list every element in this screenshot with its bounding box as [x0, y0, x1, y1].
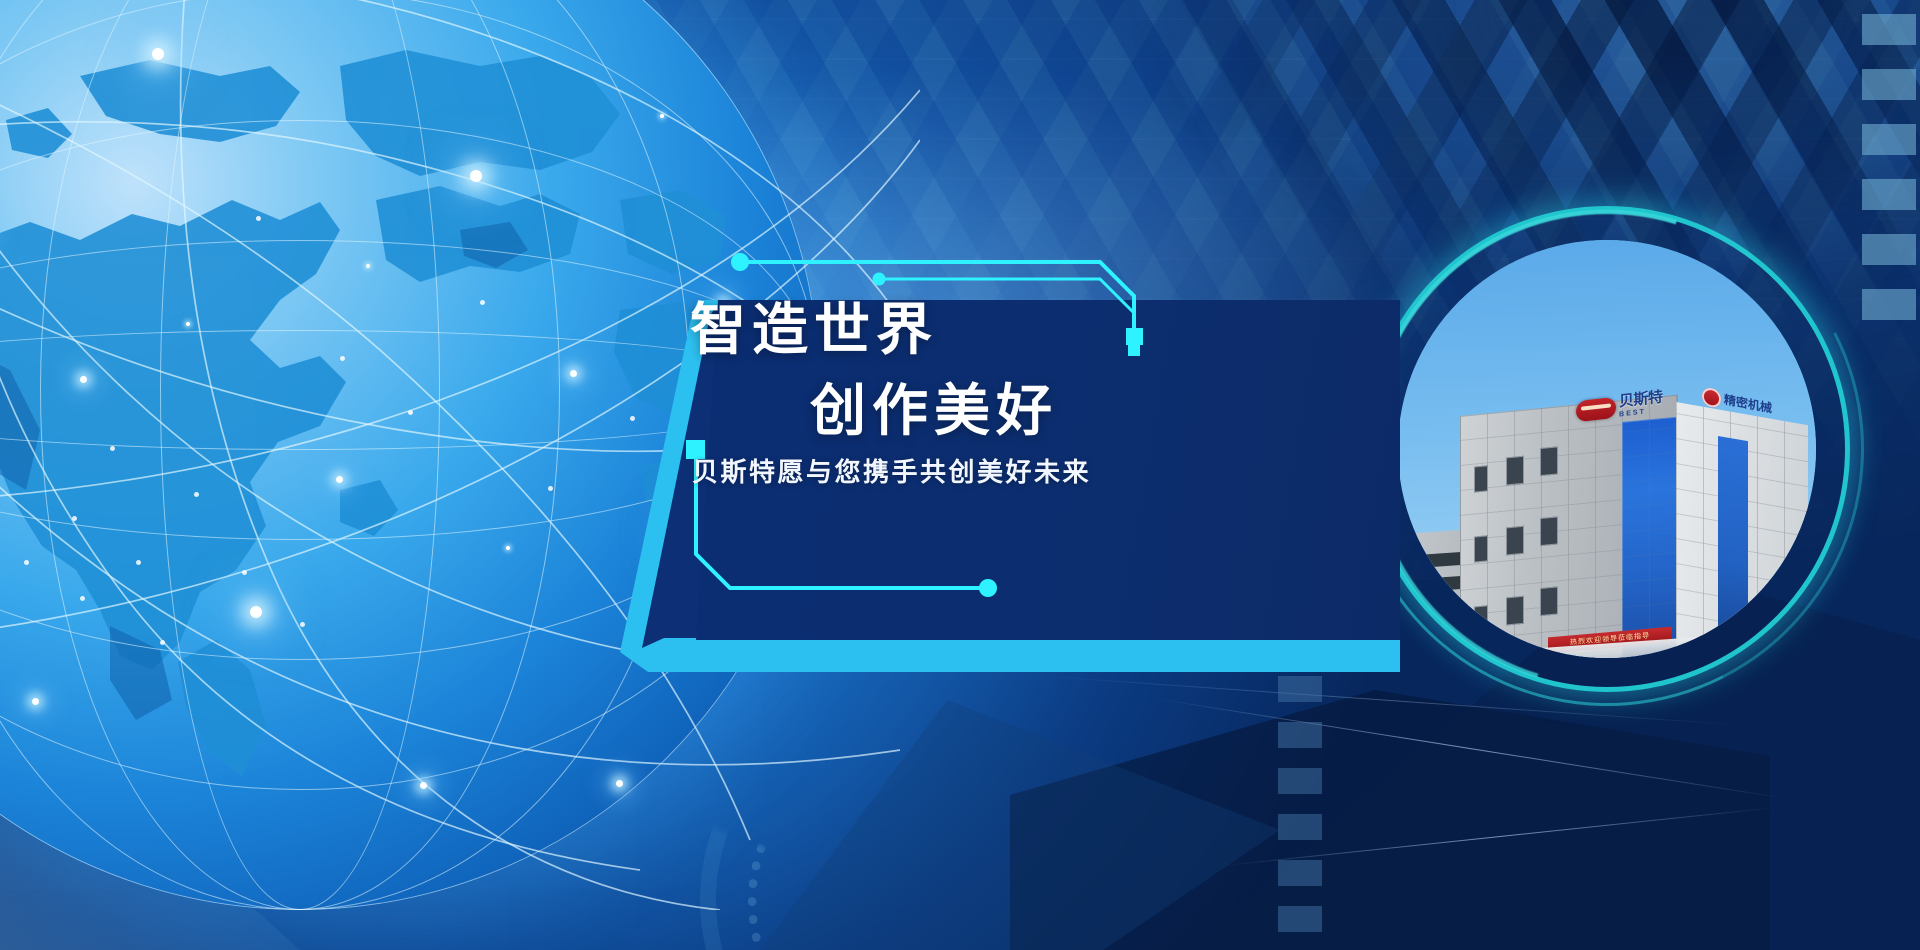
headline-line-1: 智造世界 — [690, 302, 1920, 358]
right-edge-dashes — [1862, 14, 1916, 344]
network-node — [420, 782, 427, 789]
banner-subtitle: 贝斯特愿与您携手共创美好未来 — [692, 452, 1091, 489]
dash-mark — [1862, 69, 1916, 100]
network-node — [506, 546, 510, 550]
network-node — [570, 370, 577, 377]
headline-line-2: 创作美好 — [810, 383, 1920, 439]
dash-mark — [1278, 722, 1322, 748]
hero-banner: 贝斯特 BEST 精密机械 热烈欢迎领导莅临指导 — [0, 0, 1920, 950]
network-node — [660, 114, 664, 118]
dash-mark — [1862, 289, 1916, 320]
network-node — [32, 698, 39, 705]
network-node — [250, 606, 262, 618]
dash-mark — [1862, 234, 1916, 265]
dash-mark — [1862, 179, 1916, 210]
network-node — [152, 48, 164, 60]
company-photo-circle: 贝斯特 BEST 精密机械 热烈欢迎领导莅临指导 — [1364, 206, 1850, 692]
dash-mark — [1278, 906, 1322, 932]
mid-bottom-dashes — [1278, 676, 1322, 950]
dash-mark — [1862, 14, 1916, 45]
network-node — [336, 476, 343, 483]
network-node — [186, 322, 190, 326]
dash-mark — [1278, 814, 1322, 840]
dash-mark — [1278, 768, 1322, 794]
network-node — [366, 264, 370, 268]
network-node — [80, 376, 87, 383]
dash-mark — [1862, 124, 1916, 155]
network-node — [616, 780, 623, 787]
dash-mark — [1278, 676, 1322, 702]
glass-strip — [1718, 436, 1748, 641]
dash-mark — [1278, 860, 1322, 886]
network-node — [470, 170, 482, 182]
